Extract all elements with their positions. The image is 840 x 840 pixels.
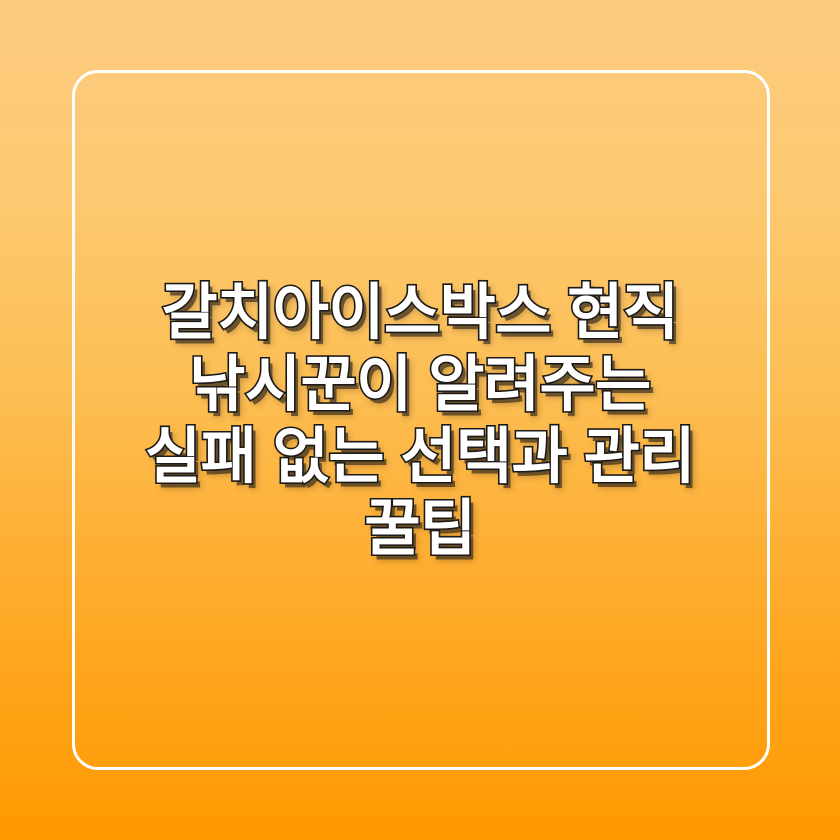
thumbnail-card: 갈치아이스박스 현직 낚시꾼이 알려주는 실패 없는 선택과 관리 꿀팁: [0, 0, 840, 840]
headline-block: 갈치아이스박스 현직 낚시꾼이 알려주는 실패 없는 선택과 관리 꿀팁: [0, 0, 840, 840]
headline-line-4: 꿀팁: [80, 492, 760, 564]
headline-line-2: 낚시꾼이 알려주는: [80, 348, 760, 420]
headline-line-1: 갈치아이스박스 현직: [80, 276, 760, 348]
headline-line-3: 실패 없는 선택과 관리: [80, 420, 760, 492]
